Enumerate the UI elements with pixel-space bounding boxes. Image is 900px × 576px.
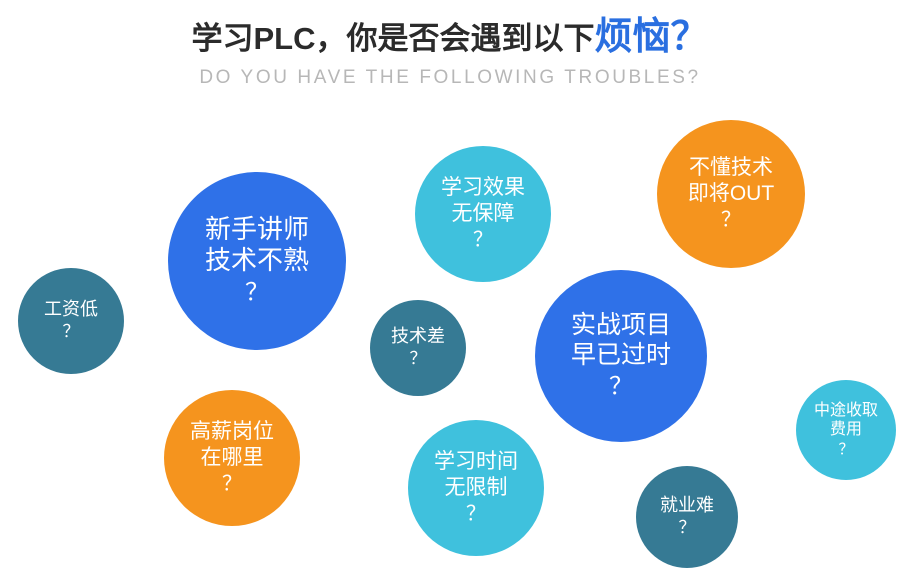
bubble-label-line: 学习效果 <box>441 175 525 201</box>
bubble-label-line: 实战项目 <box>571 310 671 341</box>
bubble-unlimited-study-time[interactable]: 学习时间无限制？ <box>408 420 544 556</box>
bubble-novice-instructor[interactable]: 新手讲师技术不熟？ <box>168 172 346 350</box>
bubble-question-mark: ？ <box>679 517 696 539</box>
bubble-poor-skills[interactable]: 技术差？ <box>370 300 466 396</box>
bubble-question-mark: ？ <box>410 348 427 370</box>
bubble-question-mark: ？ <box>63 321 80 343</box>
bubble-hidden-fees[interactable]: 中途收取费用？ <box>796 380 896 480</box>
bubble-label-line: 中途收取 <box>814 401 878 421</box>
bubble-question-mark: ？ <box>838 440 853 460</box>
bubble-label-line: 即将OUT <box>688 181 774 207</box>
bubble-question-mark: ？ <box>245 277 269 308</box>
bubble-question-mark: ？ <box>609 371 633 402</box>
bubble-outdated-projects[interactable]: 实战项目早已过时？ <box>535 270 707 442</box>
bubble-question-mark: ？ <box>721 207 741 233</box>
bubble-label-line: 高薪岗位 <box>190 419 274 445</box>
bubble-low-salary[interactable]: 工资低？ <box>18 268 124 374</box>
bubble-no-learning-guarantee[interactable]: 学习效果无保障？ <box>415 146 551 282</box>
bubble-label-line: 技术差 <box>391 326 445 348</box>
bubble-label-line: 费用 <box>830 420 862 440</box>
bubble-label-line: 早已过时 <box>571 340 671 371</box>
bubble-label-line: 技术不熟 <box>205 245 309 277</box>
bubble-question-mark: ？ <box>466 501 486 527</box>
bubble-label-line: 在哪里 <box>201 445 264 471</box>
bubble-label-line: 无保障 <box>452 201 515 227</box>
bubble-hard-employment[interactable]: 就业难？ <box>636 466 738 568</box>
bubble-label-line: 就业难 <box>660 495 714 517</box>
bubble-label-line: 学习时间 <box>434 449 518 475</box>
bubble-label-line: 不懂技术 <box>689 155 773 181</box>
bubble-label-line: 无限制 <box>445 475 508 501</box>
bubble-label-line: 工资低 <box>44 299 98 321</box>
bubble-question-mark: ？ <box>222 471 242 497</box>
bubble-label-line: 新手讲师 <box>205 214 309 246</box>
bubble-infographic-canvas: 学习PLC，你是否会遇到以下烦恼？ DO YOU HAVE THE FOLLOW… <box>0 0 900 576</box>
bubble-field: 工资低？新手讲师技术不熟？学习效果无保障？不懂技术即将OUT？技术差？实战项目早… <box>0 0 900 576</box>
bubble-question-mark: ？ <box>473 227 493 253</box>
bubble-high-salary-jobs[interactable]: 高薪岗位在哪里？ <box>164 390 300 526</box>
bubble-no-tech-out[interactable]: 不懂技术即将OUT？ <box>657 120 805 268</box>
